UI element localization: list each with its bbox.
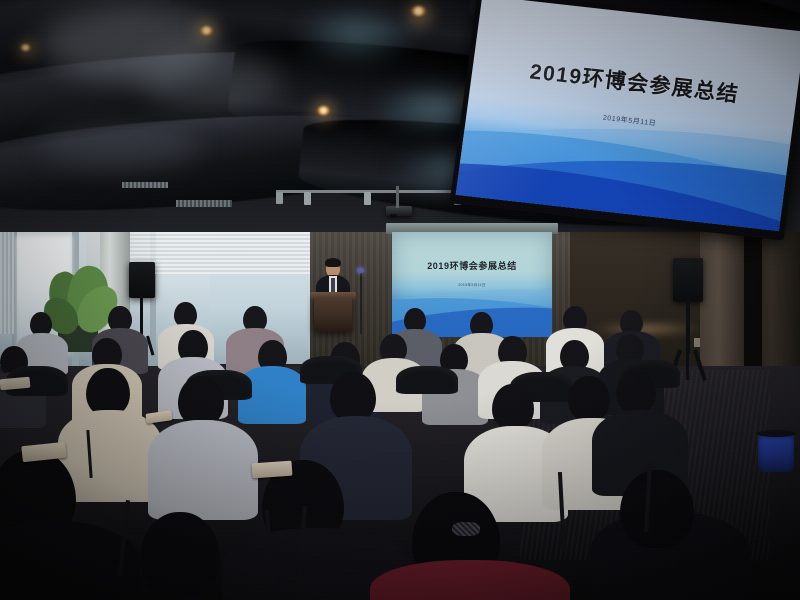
conference-photo: 2019环博会参展总结 2019年5月11日 2019环博会参展总结 2019年… (0, 0, 800, 600)
hair-clip (452, 522, 480, 536)
wall-outlet (694, 338, 700, 347)
ceiling-spotlight-2 (411, 6, 426, 16)
mic-stand (360, 272, 362, 334)
projector-mount-pole (396, 186, 399, 208)
track-light-2 (364, 192, 371, 205)
proj-slide-title: 2019环博会参展总结 (392, 259, 552, 272)
ceiling-cool-glow-1 (296, 6, 416, 62)
mic-head (357, 268, 364, 273)
presenter-tie (331, 278, 335, 292)
wall-mounted-tv: 2019环博会参展总结 2019年5月11日 (450, 0, 800, 241)
ceiling-vent-2 (122, 182, 168, 188)
bucket-rim (756, 430, 796, 437)
ceiling-spotlight-1 (200, 26, 213, 35)
ceiling-spotlight-3 (317, 106, 330, 115)
ceiling-spotlight-5 (20, 44, 31, 51)
tv-screen-sheen (456, 0, 800, 231)
blue-bucket (758, 432, 794, 472)
track-light-5 (276, 192, 283, 204)
podium (314, 296, 352, 332)
writing-tablet (252, 461, 293, 479)
proj-slide-date: 2019年5月11日 (392, 283, 552, 288)
presenter-hair (325, 258, 341, 267)
track-light-1 (304, 192, 311, 205)
chair-back (396, 366, 458, 394)
podium-top (310, 292, 356, 299)
ceiling-vent (176, 200, 232, 207)
projector-lens (390, 214, 397, 218)
tv-screen: 2019环博会参展总结 2019年5月11日 (456, 0, 800, 231)
blind-left (0, 224, 14, 334)
